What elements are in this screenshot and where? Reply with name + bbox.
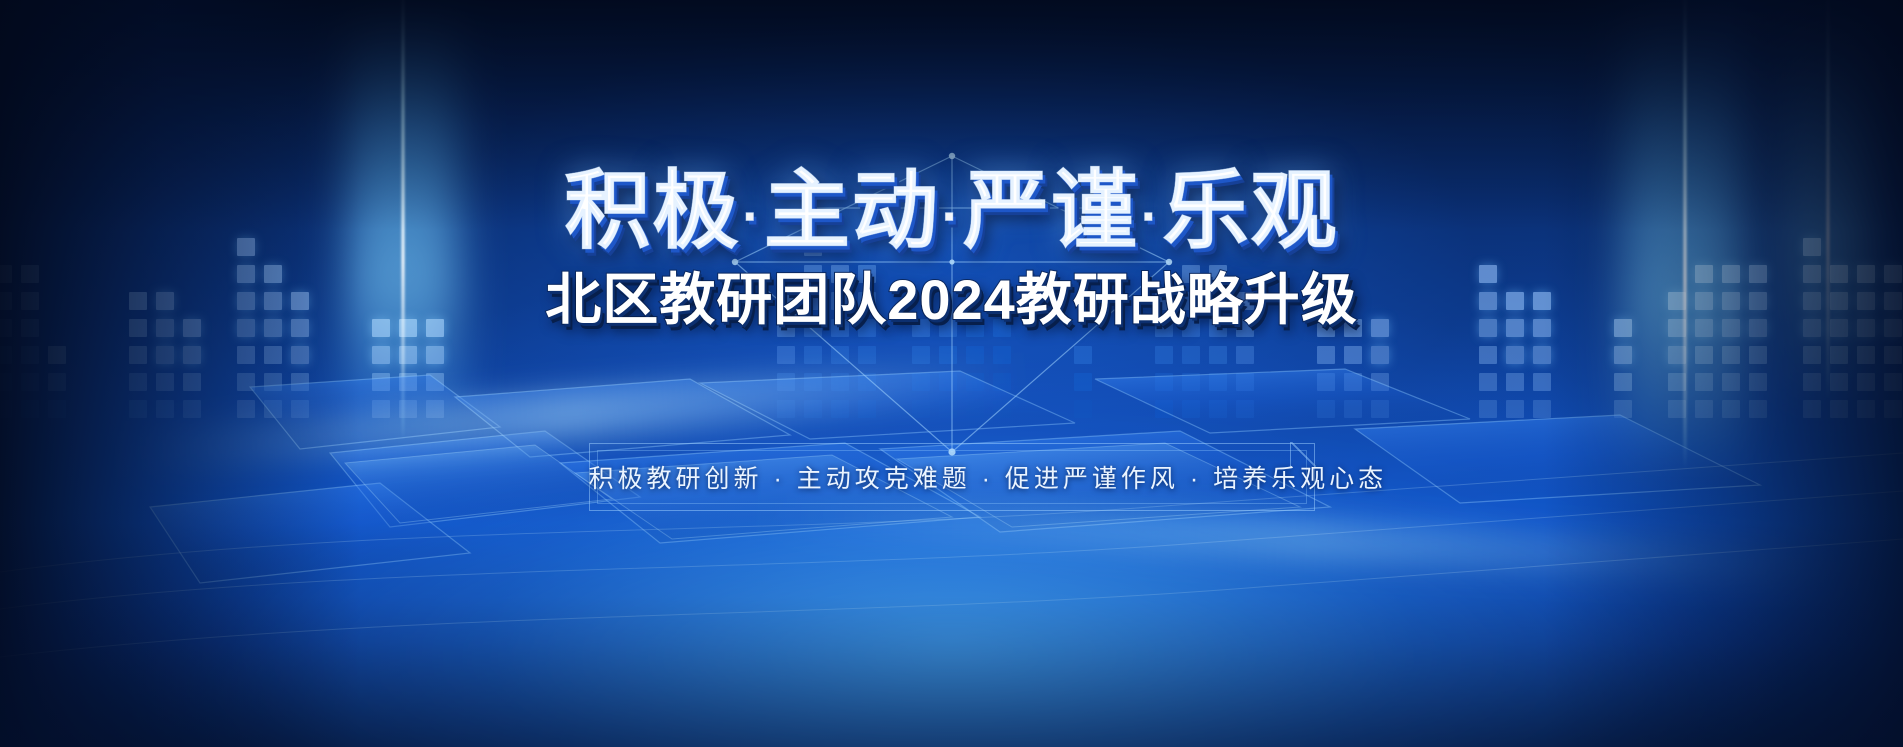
bottom-vignette — [0, 497, 1903, 747]
skyline-block — [1695, 400, 1713, 418]
skyline-block — [1803, 400, 1821, 418]
skyline-block — [1533, 373, 1551, 391]
skyline-block — [48, 346, 66, 364]
skyline-block — [1182, 373, 1200, 391]
skyline-block — [1155, 346, 1173, 364]
skyline-block — [129, 346, 147, 364]
skyline-block — [1722, 346, 1740, 364]
skyline-block — [777, 400, 795, 418]
skyline-block — [1479, 346, 1497, 364]
skyline-block — [1155, 400, 1173, 418]
skyline-block — [912, 346, 930, 364]
skyline-block — [1749, 346, 1767, 364]
skyline-block — [426, 346, 444, 364]
skyline-block — [1506, 373, 1524, 391]
skyline-block — [264, 373, 282, 391]
skyline-block — [1884, 400, 1902, 418]
skyline-block — [939, 400, 957, 418]
skyline-block — [237, 373, 255, 391]
skyline-block — [1533, 400, 1551, 418]
skyline-block — [804, 400, 822, 418]
skyline-block — [912, 400, 930, 418]
skyline-block — [48, 373, 66, 391]
skyline-block — [993, 373, 1011, 391]
skyline-block — [1830, 373, 1848, 391]
skyline-block — [372, 346, 390, 364]
skyline-block — [1506, 400, 1524, 418]
skyline-block — [237, 400, 255, 418]
skyline-block — [264, 346, 282, 364]
banner-subtitle: 北区教研团队2024教研战略升级 — [0, 272, 1903, 328]
skyline-block — [858, 346, 876, 364]
skyline-block — [1344, 346, 1362, 364]
skyline-block — [1857, 373, 1875, 391]
skyline-block — [1614, 373, 1632, 391]
skyline-block — [0, 373, 12, 391]
skyline-block — [129, 373, 147, 391]
skyline-block — [1668, 373, 1686, 391]
skyline-block — [1614, 346, 1632, 364]
skyline-block — [48, 400, 66, 418]
skyline-block — [0, 400, 12, 418]
skyline-block — [237, 346, 255, 364]
skyline-block — [399, 373, 417, 391]
skyline-block — [804, 346, 822, 364]
skyline-block — [1803, 346, 1821, 364]
perspective-floor-decoration — [0, 357, 1903, 747]
skyline-block — [1479, 400, 1497, 418]
skyline-block — [1695, 346, 1713, 364]
skyline-block — [912, 373, 930, 391]
skyline-block — [156, 373, 174, 391]
skyline-block — [1209, 400, 1227, 418]
skyline-block — [831, 400, 849, 418]
skyline-block — [183, 373, 201, 391]
banner-title: 积极·主动·严谨·乐观 — [0, 168, 1903, 254]
skyline-block — [993, 400, 1011, 418]
skyline-block — [156, 400, 174, 418]
skyline-block — [777, 346, 795, 364]
skyline-block — [966, 373, 984, 391]
floor-tiles-svg — [0, 357, 1903, 747]
skyline-block — [291, 373, 309, 391]
skyline-block — [1236, 400, 1254, 418]
banner-tagline: 积极教研创新 · 主动攻克难题 · 促进严谨作风 · 培养乐观心态 — [589, 459, 1315, 495]
skyline-block — [1533, 346, 1551, 364]
skyline-block — [1830, 346, 1848, 364]
skyline-block — [1371, 400, 1389, 418]
skyline-block — [1209, 373, 1227, 391]
skyline-block — [1317, 346, 1335, 364]
skyline-block — [129, 400, 147, 418]
skyline-block — [1857, 400, 1875, 418]
skyline-block — [264, 400, 282, 418]
skyline-block — [21, 400, 39, 418]
skyline-block — [1857, 346, 1875, 364]
skyline-block — [1506, 346, 1524, 364]
skyline-block — [1182, 400, 1200, 418]
right-vignette — [1543, 0, 1903, 747]
tagline-frame: 积极教研创新 · 主动攻克难题 · 促进严谨作风 · 培养乐观心态 — [589, 443, 1315, 511]
skyline-block — [1317, 373, 1335, 391]
skyline-block — [858, 400, 876, 418]
skyline-block — [804, 373, 822, 391]
left-vignette — [0, 0, 360, 747]
skyline-block — [858, 373, 876, 391]
skyline-block — [1236, 373, 1254, 391]
skyline-block — [1722, 373, 1740, 391]
skyline-block — [966, 400, 984, 418]
text-stack: 积极·主动·严谨·乐观 北区教研团队2024教研战略升级 — [0, 168, 1903, 328]
skyline-block — [1236, 346, 1254, 364]
skyline-block — [1830, 400, 1848, 418]
skyline-block — [291, 346, 309, 364]
skyline-block — [1884, 346, 1902, 364]
skyline-block — [777, 373, 795, 391]
skyline-block — [1749, 400, 1767, 418]
skyline-block — [966, 346, 984, 364]
skyline-block — [1668, 346, 1686, 364]
skyline-block — [1803, 373, 1821, 391]
skyline-block — [183, 346, 201, 364]
skyline-block — [1371, 346, 1389, 364]
skyline-block — [372, 373, 390, 391]
skyline-block — [1749, 373, 1767, 391]
skyline-block — [156, 346, 174, 364]
skyline-block — [21, 346, 39, 364]
skyline-block — [1182, 346, 1200, 364]
skyline-block — [1344, 400, 1362, 418]
skyline-block — [426, 373, 444, 391]
banner-root: 积极·主动·严谨·乐观 北区教研团队2024教研战略升级 积极教研创新 · 主动… — [0, 0, 1903, 747]
skyline-block — [372, 400, 390, 418]
skyline-block — [939, 346, 957, 364]
skyline-block — [1614, 400, 1632, 418]
skyline-block — [0, 346, 12, 364]
skyline-block — [291, 400, 309, 418]
skyline-block — [1209, 346, 1227, 364]
skyline-block — [993, 346, 1011, 364]
skyline-block — [1668, 400, 1686, 418]
skyline-block — [1344, 373, 1362, 391]
skyline-block — [1155, 373, 1173, 391]
skyline-block — [1317, 400, 1335, 418]
skyline-block — [1722, 400, 1740, 418]
skyline-block — [426, 400, 444, 418]
skyline-block — [1074, 400, 1092, 418]
skyline-block — [21, 373, 39, 391]
skyline-block — [939, 373, 957, 391]
skyline-block — [1479, 373, 1497, 391]
skyline-block — [1074, 373, 1092, 391]
skyline-block — [831, 346, 849, 364]
skyline-block — [399, 400, 417, 418]
skyline-block — [1695, 373, 1713, 391]
skyline-block — [1074, 346, 1092, 364]
skyline-block — [183, 400, 201, 418]
skyline-block — [1884, 373, 1902, 391]
skyline-block — [1371, 373, 1389, 391]
skyline-block — [399, 346, 417, 364]
skyline-block — [831, 373, 849, 391]
